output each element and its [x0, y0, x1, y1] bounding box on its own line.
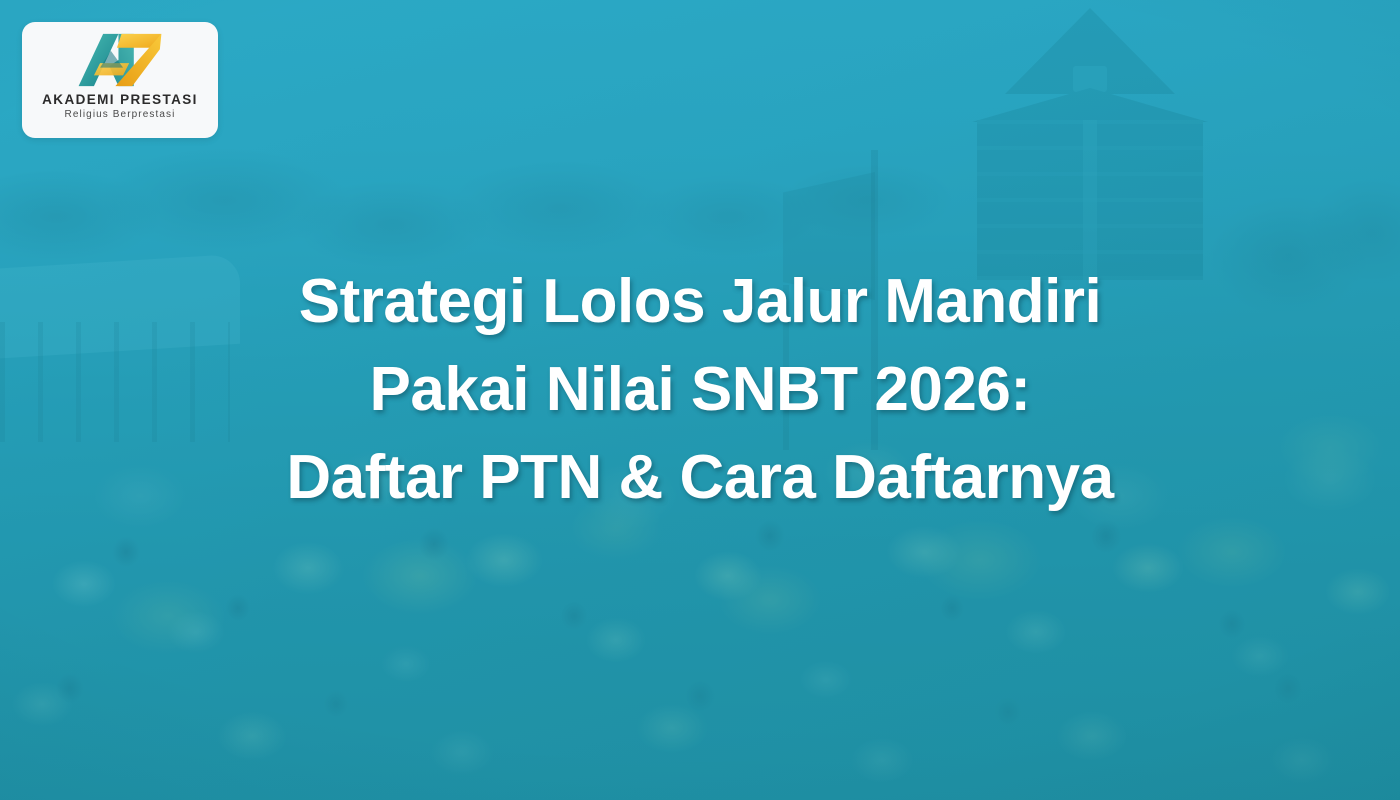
brand-logo-card[interactable]: AKADEMI PRESTASI Religius Berprestasi	[22, 22, 218, 138]
logo-wordmark: AKADEMI PRESTASI	[42, 92, 198, 107]
akademi-prestasi-a7-monogram-icon	[74, 29, 166, 91]
headline-line-1: Strategi Lolos Jalur Mandiri	[0, 258, 1400, 346]
building-center-slot	[1083, 120, 1097, 280]
building-upper-eave	[972, 88, 1208, 122]
article-hero-banner: AKADEMI PRESTASI Religius Berprestasi St…	[0, 0, 1400, 800]
logo-tagline: Religius Berprestasi	[65, 109, 176, 120]
campus-building-silhouette	[965, 8, 1215, 280]
headline-line-2: Pakai Nilai SNBT 2026:	[0, 346, 1400, 434]
headline-line-3: Daftar PTN & Cara Daftarnya	[0, 434, 1400, 522]
hero-headline: Strategi Lolos Jalur Mandiri Pakai Nilai…	[0, 258, 1400, 522]
